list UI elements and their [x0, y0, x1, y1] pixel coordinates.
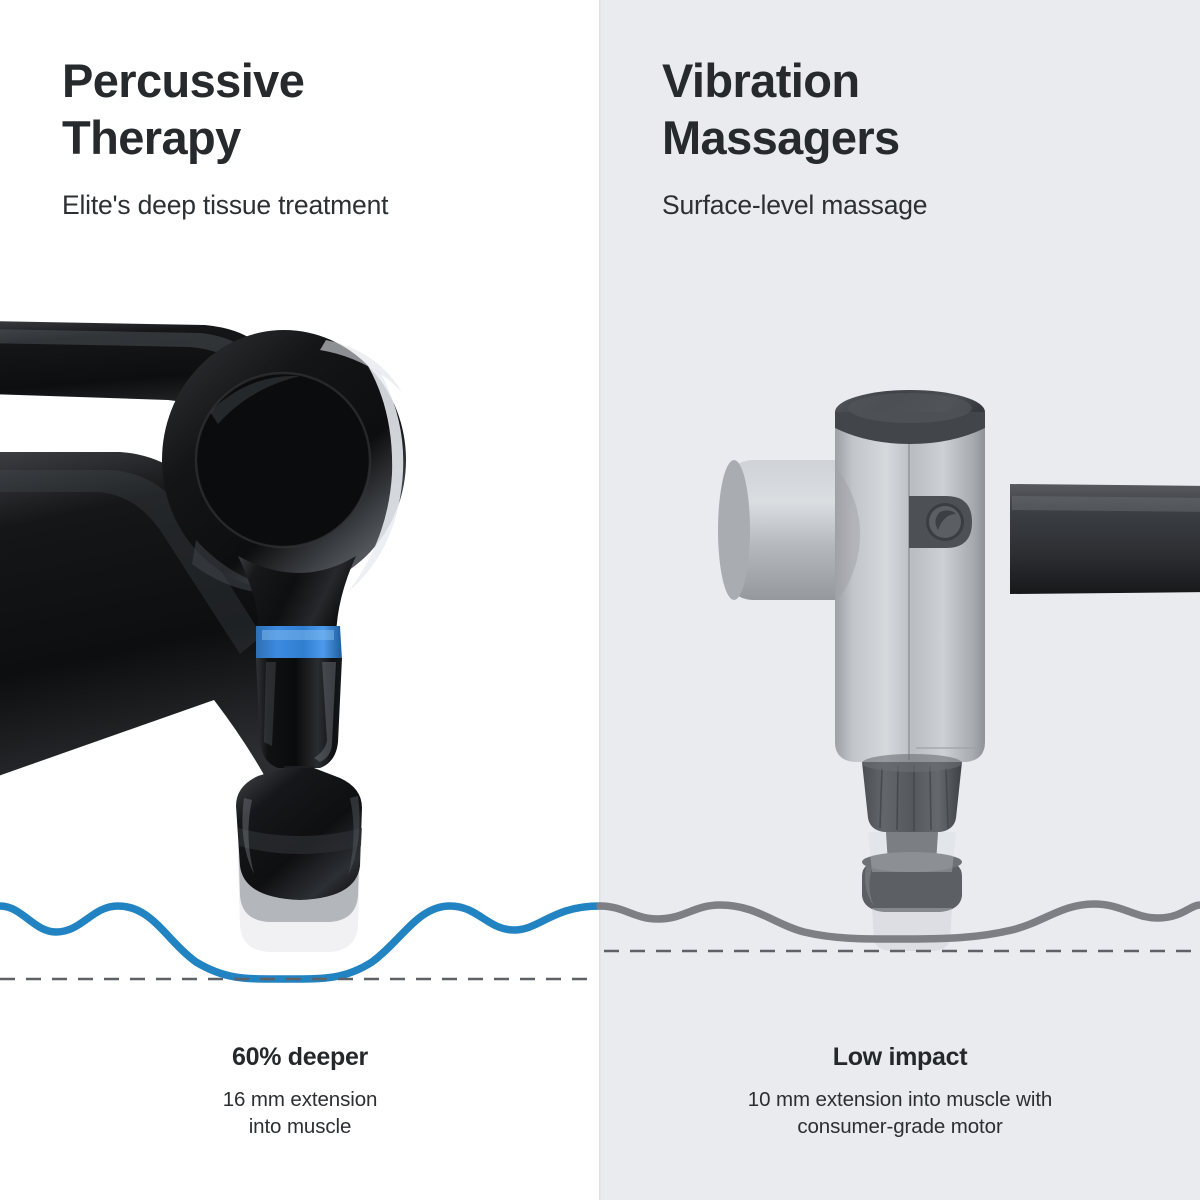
- left-heading-block: Percussive Therapy Elite's deep tissue t…: [62, 52, 562, 222]
- left-caption-title: 60% deeper: [75, 1043, 525, 1072]
- right-caption-sub: 10 mm extension into muscle with consume…: [660, 1086, 1140, 1141]
- left-subline: Elite's deep tissue treatment: [62, 189, 562, 222]
- right-heading-block: Vibration Massagers Surface-level massag…: [662, 52, 1162, 222]
- left-caption-sub-line2: into muscle: [75, 1113, 525, 1140]
- left-caption-sub-line1: 16 mm extension: [75, 1086, 525, 1113]
- right-headline-line2: Massagers: [662, 109, 1162, 166]
- right-headline: Vibration Massagers: [662, 52, 1162, 167]
- right-caption-title: Low impact: [660, 1043, 1140, 1072]
- right-caption-sub-line2: consumer-grade motor: [660, 1113, 1140, 1140]
- panel-divider: [599, 0, 601, 1200]
- comparison-graphic: Percussive Therapy Elite's deep tissue t…: [0, 0, 1200, 1200]
- right-caption-block: Low impact 10 mm extension into muscle w…: [660, 1043, 1140, 1141]
- left-caption-sub: 16 mm extension into muscle: [75, 1086, 525, 1141]
- left-headline-line2: Therapy: [62, 109, 562, 166]
- right-subline: Surface-level massage: [662, 189, 1162, 222]
- right-headline-line1: Vibration: [662, 52, 1162, 109]
- left-headline: Percussive Therapy: [62, 52, 562, 167]
- left-caption-block: 60% deeper 16 mm extension into muscle: [75, 1043, 525, 1141]
- left-headline-line1: Percussive: [62, 52, 562, 109]
- right-caption-sub-line1: 10 mm extension into muscle with: [660, 1086, 1140, 1113]
